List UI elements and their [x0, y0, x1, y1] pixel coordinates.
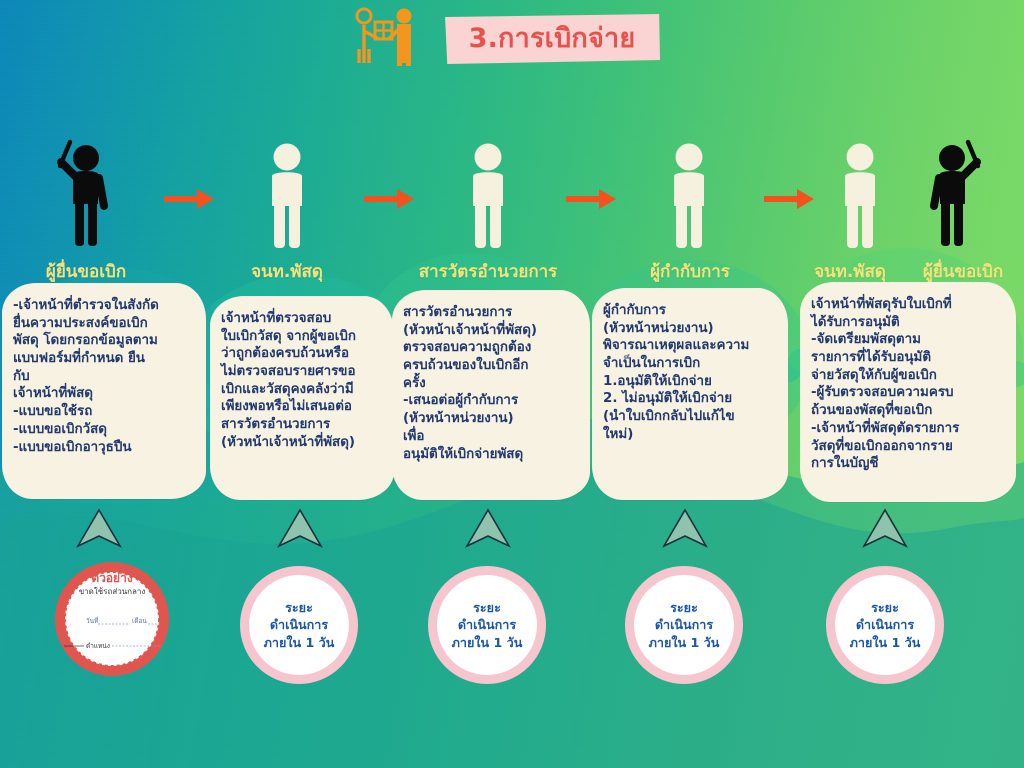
- chevron-up-icon-5: [862, 508, 908, 548]
- role-label-step-5: จนท.พัสดุ: [800, 258, 900, 285]
- role-label-step-1: ผู้ยื่นขอเบิก: [42, 258, 130, 285]
- person-carrying-box-icon: [350, 5, 416, 67]
- page-title-plate: 3.การเบิกจ่าย: [444, 14, 660, 64]
- right-arrow-icon-3: [566, 186, 618, 212]
- figure-step-4: [645, 132, 733, 250]
- bubble-step-2: เจ้าหน้าที่ตรวจสอบ ใบเบิกวัสดุ จากผู้ขอเ…: [210, 296, 394, 500]
- chevron-up-icon-2: [277, 508, 323, 548]
- chevron-up-icon-3: [465, 508, 511, 548]
- figure-step-2: [243, 132, 331, 250]
- duration-text-step-2: ระยะ ดำเนินการ ภายใน 1 วัน: [264, 599, 335, 651]
- duration-text-step-5: ระยะ ดำเนินการ ภายใน 1 วัน: [850, 599, 921, 651]
- duration-circle-step-5: ระยะ ดำเนินการ ภายใน 1 วัน: [826, 566, 944, 684]
- bubble-step-5: เจ้าหน้าที่พัสดุรับใบเบิกที่ ได้รับการอน…: [800, 282, 1016, 502]
- right-arrow-icon-4: [764, 186, 816, 212]
- svg-text:ตัวอย่าง: ตัวอย่าง: [91, 571, 133, 585]
- right-arrow-icon-1: [164, 186, 216, 212]
- right-arrow-icon-2: [364, 186, 416, 212]
- duration-text-step-3: ระยะ ดำเนินการ ภายใน 1 วัน: [452, 599, 523, 651]
- svg-text:ขาดใช้รถส่วนกลาง: ขาดใช้รถส่วนกลาง: [79, 587, 146, 596]
- bubble-step-1: -เจ้าหน้าที่ตำรวจในสังกัด ยื่นความประสงค…: [2, 283, 206, 499]
- figure-step-5-requester: [908, 132, 996, 250]
- duration-circle-step-2: ระยะ ดำเนินการ ภายใน 1 วัน: [240, 566, 358, 684]
- infographic-canvas: 3.การเบิกจ่าย: [0, 0, 1024, 768]
- figure-step-3: [444, 132, 532, 250]
- duration-text-step-4: ระยะ ดำเนินการ ภายใน 1 วัน: [649, 599, 720, 651]
- role-label-step-2: จนท.พัสดุ: [237, 258, 337, 285]
- svg-text:วันที่: วันที่: [86, 616, 98, 625]
- bubble-step-3: สารวัตรอำนวยการ (หัวหน้าเจ้าหน้าที่พัสดุ…: [392, 290, 590, 500]
- duration-circle-step-4: ระยะ ดำเนินการ ภายใน 1 วัน: [625, 566, 743, 684]
- chevron-up-icon-4: [662, 508, 708, 548]
- role-label-step-5-requester: ผู้ยื่นขอเบิก: [904, 258, 1022, 285]
- page-title: 3.การเบิกจ่าย: [469, 25, 636, 52]
- figure-step-5: [816, 132, 904, 250]
- sample-stamp-step-1: ตัวอย่าง ขาดใช้รถส่วนกลาง วันที่ เดือน ต…: [38, 560, 186, 678]
- bubble-step-4: ผู้กำกับการ (หัวหน้าหน่วยงาน) พิจารณาเหต…: [592, 288, 788, 500]
- role-label-step-3: สารวัตรอำนวยการ: [396, 258, 580, 285]
- figure-step-1: [42, 132, 130, 250]
- svg-text:เดือน: เดือน: [132, 617, 147, 625]
- role-label-step-4: ผู้กำกับการ: [620, 258, 760, 285]
- duration-circle-step-3: ระยะ ดำเนินการ ภายใน 1 วัน: [428, 566, 546, 684]
- svg-text:ตำแหน่ง: ตำแหน่ง: [86, 642, 110, 650]
- chevron-up-icon-1: [76, 508, 122, 548]
